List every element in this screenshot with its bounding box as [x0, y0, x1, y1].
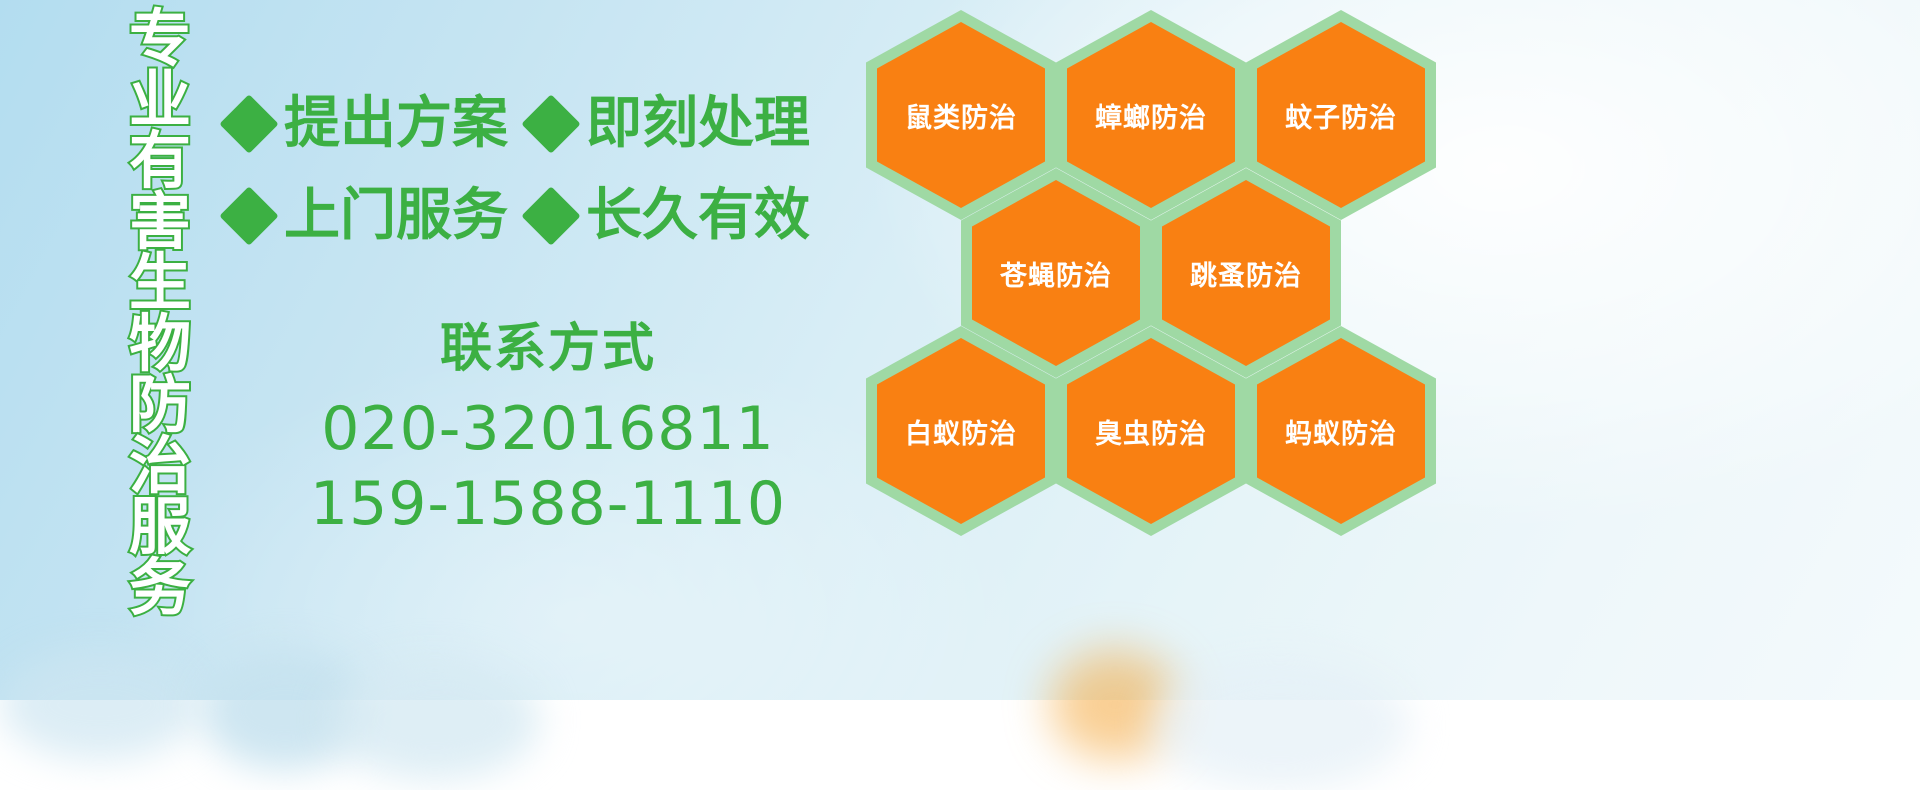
- background-blob: [1150, 660, 1410, 790]
- background-blob: [330, 660, 540, 780]
- diamond-icon: [521, 94, 580, 153]
- contact-phone-landline[interactable]: 020-32016811: [228, 392, 868, 467]
- vertical-headline-char: 害: [129, 191, 191, 252]
- service-hex-label: 鼠类防治: [905, 96, 1017, 135]
- service-hex-label: 蚂蚁防治: [1285, 412, 1397, 451]
- vertical-headline-char: 业: [129, 69, 191, 130]
- vertical-headline-char: 物: [129, 313, 191, 374]
- feature-item: 长久有效: [530, 188, 810, 244]
- service-hex-label: 蚊子防治: [1285, 96, 1397, 135]
- feature-label: 长久有效: [586, 188, 810, 244]
- vertical-headline-char: 专: [129, 8, 191, 69]
- service-hex-label: 白蚁防治: [905, 412, 1017, 451]
- service-hex-label: 跳蚤防治: [1190, 254, 1302, 293]
- feature-label: 提出方案: [284, 96, 508, 152]
- contact-block: 联系方式 020-32016811 159-1588-1110: [228, 318, 868, 542]
- hex-inner: 臭虫防治: [1067, 338, 1235, 524]
- vertical-headline: 专 业 有 害 生 物 防 治 服 务: [108, 8, 212, 568]
- background-blob-orange: [1050, 650, 1180, 760]
- service-hex-label: 蟑螂防治: [1095, 96, 1207, 135]
- service-hex-grid: 鼠类防治 蟑螂防治 蚊子防治 苍蝇防治 跳蚤防治 白蚁防: [860, 0, 1480, 560]
- background-blob: [0, 650, 200, 760]
- vertical-headline-char: 治: [129, 435, 191, 496]
- hex-inner: 跳蚤防治: [1162, 180, 1330, 366]
- feature-item: 提出方案: [228, 96, 508, 152]
- vertical-headline-char: 生: [129, 252, 191, 313]
- background-blob: [200, 650, 370, 770]
- hex-inner: 蚂蚁防治: [1257, 338, 1425, 524]
- contact-title: 联系方式: [228, 318, 868, 380]
- vertical-headline-char: 有: [129, 130, 191, 191]
- service-hex-label: 臭虫防治: [1095, 412, 1207, 451]
- hex-inner: 鼠类防治: [877, 22, 1045, 208]
- hex-inner: 蚊子防治: [1257, 22, 1425, 208]
- feature-label: 即刻处理: [586, 96, 810, 152]
- vertical-headline-char: 防: [129, 374, 191, 435]
- feature-row: 提出方案 即刻处理: [228, 78, 868, 170]
- diamond-icon: [219, 186, 278, 245]
- feature-row: 上门服务 长久有效: [228, 170, 868, 262]
- feature-list: 提出方案 即刻处理 上门服务 长久有效: [228, 78, 868, 262]
- feature-item: 上门服务: [228, 188, 508, 244]
- feature-item: 即刻处理: [530, 96, 810, 152]
- hex-inner: 蟑螂防治: [1067, 22, 1235, 208]
- diamond-icon: [219, 94, 278, 153]
- feature-label: 上门服务: [284, 188, 508, 244]
- hex-inner: 苍蝇防治: [972, 180, 1140, 366]
- contact-phone-mobile[interactable]: 159-1588-1110: [228, 467, 868, 542]
- diamond-icon: [521, 186, 580, 245]
- service-hex-label: 苍蝇防治: [1000, 254, 1112, 293]
- hex-inner: 白蚁防治: [877, 338, 1045, 524]
- vertical-headline-char: 务: [129, 557, 191, 618]
- pest-control-banner: 专 业 有 害 生 物 防 治 服 务 提出方案 即刻处理 上门服务: [0, 0, 1920, 700]
- vertical-headline-char: 服: [129, 496, 191, 557]
